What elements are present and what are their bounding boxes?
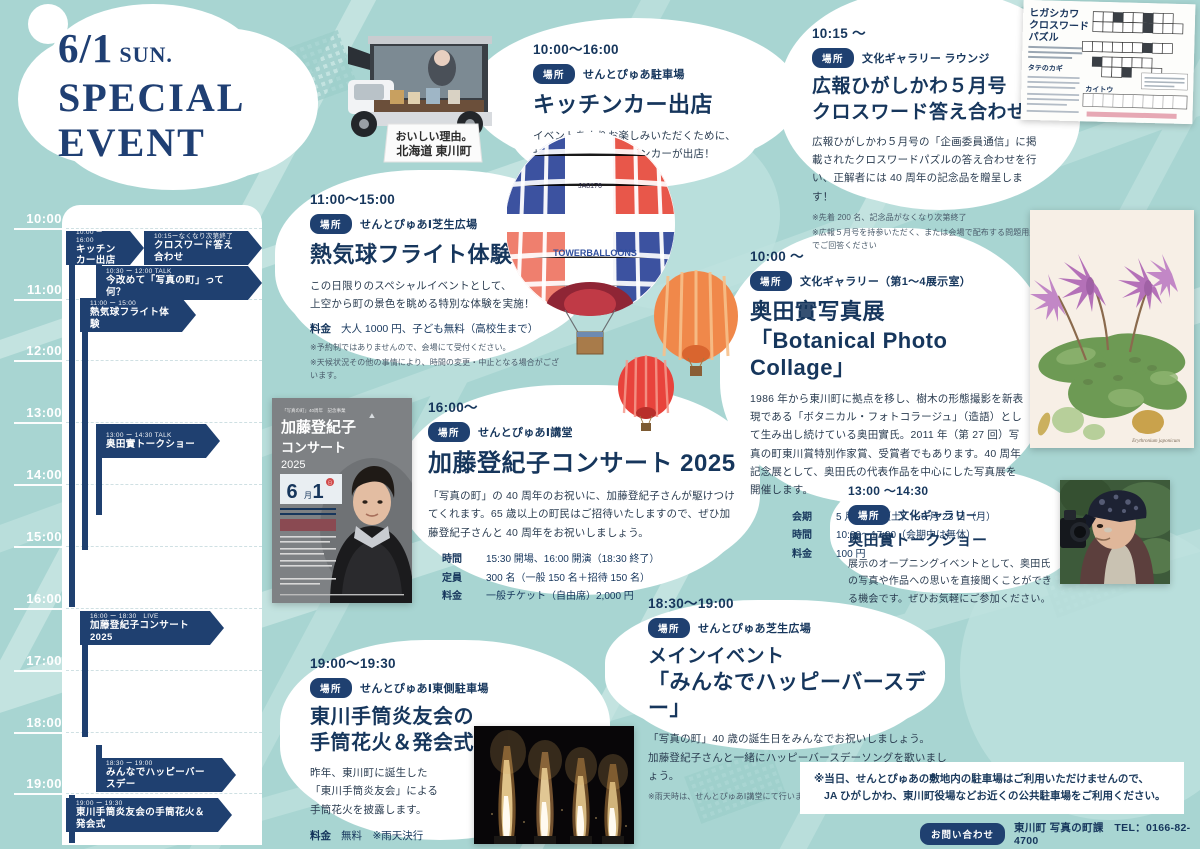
timeline-dash-1000	[66, 228, 262, 229]
crossword-title-3: パズル	[1028, 30, 1058, 44]
event-body-line: 「東川手筒炎友会」による	[310, 782, 490, 800]
event-title-line-2: 「Botanical Photo Collage」	[750, 327, 1026, 382]
timeline-hour-1500: 15:00	[10, 529, 62, 544]
timeline-flag-name: 熱気球フライト体験	[90, 307, 174, 330]
place-badge: 場所	[310, 678, 352, 698]
svg-text:⛰: ⛰	[369, 413, 375, 420]
timeline-bar-balloon	[82, 300, 88, 550]
crossword-title-2: クロスワード	[1029, 19, 1089, 33]
event-title-line-2: 手筒花火＆発会式	[310, 731, 490, 756]
contact-text: 東川町 写真の町課 TEL：0166-82-4700	[1014, 820, 1200, 847]
timeline-flag-talkshow[interactable]: 13:00 ー 14:30 TALK 奥田實トークショー	[96, 424, 220, 458]
timeline-line-1500	[14, 546, 62, 548]
balloon-brand-top: JA8176	[578, 183, 602, 190]
event-place: 場所 文化ギャラリー（第1〜4展示室）	[750, 271, 1026, 291]
timeline-hour-1800: 18:00	[10, 715, 62, 730]
event-body: 「写真の町」の 40 周年のお祝いに、加藤登紀子さんが駆けつけてくれます。65 …	[428, 487, 736, 542]
place-text: せんとぴゅあⅠ東側駐車場	[360, 680, 489, 696]
event-title-line-1: メインイベント	[648, 645, 948, 669]
kitchencar-caption-2: 北海道 東川町	[396, 143, 471, 158]
place-badge: 場所	[428, 422, 470, 442]
place-badge: 場所	[812, 48, 854, 68]
timeline-hour-1400: 14:00	[10, 467, 62, 482]
timeline-hour-1900: 19:00	[10, 776, 62, 791]
event-time: 10:15 〜	[812, 22, 1044, 42]
timeline-dash-1500	[66, 546, 262, 547]
svg-text:「写真の町」40周年 記念事業: 「写真の町」40周年 記念事業	[282, 407, 346, 414]
event-body-line: 「写真の町」40 歳の誕生日をみんなでお祝いしましょう。	[648, 730, 948, 748]
timeline-dash-1600	[66, 608, 262, 609]
parking-notice: ※当日、せんとぴゅあの敷地内の駐車場はご利用いただけませんので、 JA ひがしか…	[800, 762, 1184, 814]
page-title: 6/1SUN. SPECIAL EVENT	[58, 28, 328, 163]
event-card-fireworks: 19:00〜19:30 場所 せんとぴゅあⅠ東側駐車場 東川手筒炎友会の 手筒花…	[310, 652, 490, 843]
okuda-portrait-photo	[1060, 480, 1170, 584]
timeline-flag-name: 今改めて「写真の町」って何？	[106, 275, 240, 298]
timeline-hour-1100: 11:00	[10, 282, 62, 297]
title-event: EVENT	[58, 123, 328, 163]
timeline-flag-concert[interactable]: 16:00 ー 18:30 LIVE 加藤登紀子コンサート 2025	[80, 611, 224, 645]
spec-label: 時間	[442, 551, 476, 570]
timeline-line-1300	[14, 422, 62, 424]
contact-badge: お問い合わせ	[920, 823, 1005, 845]
event-note-1: ※先着 200 名、記念品がなくなり次第終了	[812, 212, 1044, 225]
place-text: 文化ギャラリー ラウンジ	[862, 50, 990, 66]
event-time: 10:00 〜	[750, 245, 1026, 265]
event-card-talkshow: 13:00 〜14:30 場所 文化ギャラリー 奥田實トークショー 展示のオープ…	[848, 482, 1054, 608]
notice-line-1: ※当日、せんとぴゅあの敷地内の駐車場はご利用いただけませんので、	[814, 771, 1170, 788]
timeline-line-1800	[14, 732, 62, 734]
timeline-hour-1300: 13:00	[10, 405, 62, 420]
event-time: 16:00〜	[428, 396, 736, 416]
timeline-dash-1200	[66, 360, 262, 361]
svg-text:日: 日	[328, 480, 332, 485]
event-poster: 6/1SUN. SPECIAL EVENT 10:00 11:00 12:00 …	[0, 0, 1200, 849]
place-badge: 場所	[750, 271, 792, 291]
contact-info: お問い合わせ 東川町 写真の町課 TEL：0166-82-4700	[920, 820, 1200, 847]
event-place: 場所 せんとぴゅあⅠ東側駐車場	[310, 678, 490, 698]
timeline-flag-name: みんなでハッピーバースデー	[106, 767, 214, 790]
notice-line-2: JA ひがしかわ、東川町役場などお近くの公共駐車場をご利用ください。	[814, 788, 1170, 805]
fee-label: 料金	[310, 321, 331, 336]
timeline-hour-1600: 16:00	[10, 591, 62, 606]
title-special: SPECIAL	[58, 78, 328, 118]
timeline-flag-birthday[interactable]: 18:30 ー 19:00 みんなでハッピーバースデー	[96, 758, 236, 792]
event-time: 18:30〜19:00	[648, 592, 948, 612]
timeline-flag-time: 19:00 ー 19:30	[76, 800, 210, 807]
timeline-line-1600	[14, 608, 62, 610]
fee-value: 無料 ※雨天決行	[341, 828, 423, 843]
place-text: せんとぴゅあ芝生広場	[698, 620, 811, 636]
event-time: 13:00 〜14:30	[848, 482, 1054, 499]
timeline-line-1100	[14, 299, 62, 301]
place-text: せんとぴゅあ駐車場	[583, 66, 685, 82]
concert-poster-day: 1	[312, 481, 323, 503]
timeline-flag-name: 加藤登紀子コンサート 2025	[90, 620, 202, 643]
timeline-flag-talk1[interactable]: 10:30 ー 12:00 TALK 今改めて「写真の町」って何？	[96, 266, 262, 300]
event-title: キッチンカー出店	[533, 91, 783, 119]
crossword-title-1: ヒガシカワ	[1029, 6, 1079, 20]
botanical-caption: Erythronium japonicum	[1131, 439, 1180, 444]
botanical-photo: Erythronium japonicum	[1030, 210, 1194, 448]
timeline-hour-1700: 17:00	[10, 653, 62, 668]
timeline-flag-time: 18:30 ー 19:00	[106, 760, 214, 767]
spec-label: 料金	[792, 546, 826, 565]
spec-label: 料金	[442, 588, 476, 607]
event-body-line: 手筒花火を披露します。	[310, 801, 490, 819]
event-title-line-1: 広報ひがしかわ５月号	[812, 75, 1044, 99]
event-body: 広報ひがしかわ５月号の「企画委員通信」に掲載されたクロスワードパズルの答え合わせ…	[812, 133, 1044, 207]
event-place: 場所 せんとぴゅあ駐車場	[533, 64, 783, 84]
timeline-flag-time: 10:00 ー 16:00	[76, 229, 122, 243]
title-day: SUN.	[119, 42, 173, 67]
spec-value: 一般チケット（自由席）2,000 円	[486, 588, 634, 607]
concert-poster-year: 2025	[281, 459, 305, 471]
place-badge: 場所	[310, 214, 352, 234]
event-title-line-2: 「みんなでハッピーバースデー」	[648, 670, 948, 723]
event-title-line-1: 東川手筒炎友会の	[310, 705, 490, 730]
spec-value: 300 名（一般 150 名＋招待 150 名）	[486, 570, 650, 589]
timeline-flag-kitchencar[interactable]: 10:00 ー 16:00 キッチンカー出店	[66, 231, 144, 265]
timeline-flag-name: 奥田實トークショー	[106, 439, 198, 450]
title-date: 6/1	[58, 25, 113, 71]
event-place: 場所 せんとぴゅあ芝生広場	[648, 618, 948, 638]
event-place: 場所 せんとぴゅあⅠ講堂	[428, 422, 736, 442]
timeline-bar-kitchencar	[69, 232, 75, 607]
event-body-line: 昨年、東川町に誕生した	[310, 764, 490, 782]
fireworks-photo	[474, 726, 634, 844]
concert-poster-month: 6	[286, 481, 297, 503]
timeline-dash-1800	[66, 732, 262, 733]
timeline-flag-name: クロスワード答え合わせ	[154, 240, 240, 263]
timeline-flag-time: 11:00 ー 15:00	[90, 300, 174, 307]
crossword-puzzle-image: ヒガシカワ クロスワード パズル タテのカギ	[1020, 0, 1195, 124]
place-badge: 場所	[648, 618, 690, 638]
timeline-flag-time: 10:30 ー 12:00 TALK	[106, 268, 240, 275]
kitchencar-caption-1: おいしい理由。	[396, 129, 473, 143]
timeline-flag-fireworks[interactable]: 19:00 ー 19:30 東川手筒炎友会の手筒花火＆発会式	[66, 798, 232, 832]
place-badge: 場所	[533, 64, 575, 84]
event-time: 19:00〜19:30	[310, 652, 490, 672]
event-title: 加藤登紀子コンサート 2025	[428, 449, 736, 479]
timeline-line-1000	[14, 228, 62, 230]
concert-poster-image: 「写真の町」40周年 記念事業 加藤登紀子 コンサート 2025 6 月 1 日…	[272, 398, 412, 603]
event-title: 奥田實トークショー	[848, 532, 1054, 551]
place-text: せんとぴゅあⅠ芝生広場	[360, 216, 477, 232]
timeline-line-1700	[14, 670, 62, 672]
event-place: 場所 文化ギャラリー ラウンジ	[812, 48, 1044, 68]
place-text: 文化ギャラリー	[898, 507, 977, 523]
spec-value: 15:30 開場、16:00 開演（18:30 終了）	[486, 551, 659, 570]
timeline-flag-name: 東川手筒炎友会の手筒花火＆発会式	[76, 807, 210, 830]
timeline-line-1900	[14, 793, 62, 795]
place-badge: 場所	[848, 505, 890, 525]
kitchen-car-photo: おいしい理由。 北海道 東川町	[330, 12, 510, 184]
timeline-dash-1300	[66, 422, 262, 423]
timeline-flag-crossword[interactable]: 10:15ーなくなり次第終了 クロスワード答え合わせ	[144, 231, 262, 265]
event-title-line-2: クロスワード答え合わせ	[812, 101, 1044, 125]
timeline-hour-1200: 12:00	[10, 343, 62, 358]
event-card-concert: 16:00〜 場所 せんとぴゅあⅠ講堂 加藤登紀子コンサート 2025 「写真の…	[428, 396, 736, 607]
balloon-brand: TOWERBALLOONS	[553, 248, 637, 258]
timeline-dash-1900	[66, 793, 262, 794]
fee-label: 料金	[310, 828, 331, 843]
spec-label: 定員	[442, 570, 476, 589]
timeline-dash-1700	[66, 670, 262, 671]
place-text: 文化ギャラリー（第1〜4展示室）	[800, 273, 971, 289]
timeline-line-1200	[14, 360, 62, 362]
place-text: せんとぴゅあⅠ講堂	[478, 424, 573, 440]
timeline-flag-time: 16:00 ー 18:30 LIVE	[90, 613, 202, 620]
timeline-flag-name: キッチンカー出店	[76, 244, 122, 267]
hot-air-balloon-photo-red	[615, 355, 677, 435]
concert-poster-title-2: コンサート	[281, 440, 346, 455]
timeline-flag-time: 10:15ーなくなり次第終了	[154, 233, 240, 240]
event-card-crossword: 10:15 〜 場所 文化ギャラリー ラウンジ 広報ひがしかわ５月号 クロスワー…	[812, 22, 1044, 252]
spec-label: 会期	[792, 509, 826, 528]
svg-text:月: 月	[304, 491, 312, 500]
event-title-line-1: 奥田實写真展	[750, 298, 1026, 326]
spec-label: 時間	[792, 527, 826, 546]
timeline-flag-balloon[interactable]: 11:00 ー 15:00 熱気球フライト体験	[80, 298, 196, 332]
concert-poster-title-1: 加藤登紀子	[280, 418, 356, 436]
timeline-flag-time: 13:00 ー 14:30 TALK	[106, 432, 198, 439]
timeline-line-1400	[14, 484, 62, 486]
timeline-hour-1000: 10:00	[10, 211, 62, 226]
event-time: 10:00〜16:00	[533, 38, 783, 58]
event-place: 場所 文化ギャラリー	[848, 505, 1054, 525]
